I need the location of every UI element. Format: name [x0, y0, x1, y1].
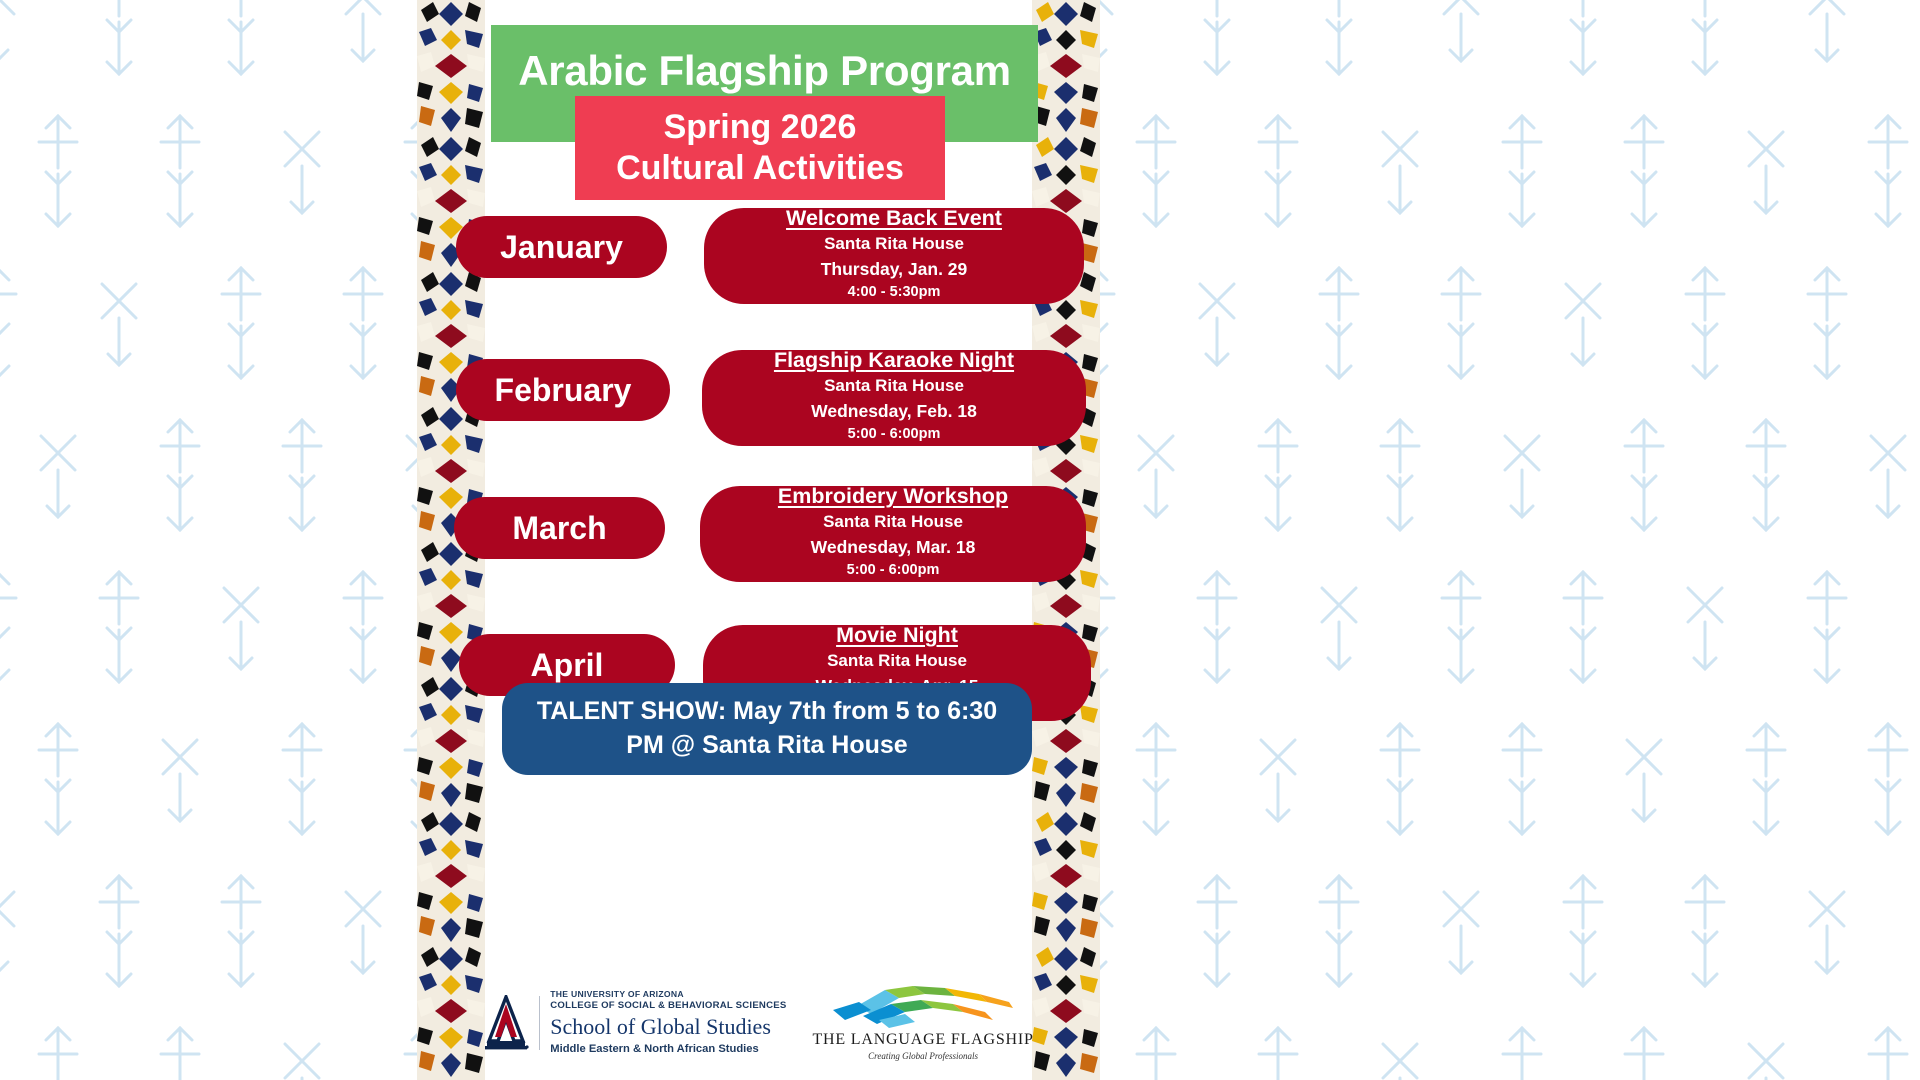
- background-x-motif-icon: [1373, 1024, 1427, 1080]
- background-x-motif-icon: [1739, 112, 1793, 230]
- event-date: Thursday, Jan. 29: [821, 257, 968, 282]
- language-flagship-logo: THE LANGUAGE FLAGSHIP Creating Global Pr…: [812, 986, 1033, 1061]
- page-title: Arabic Flagship Program: [491, 47, 1038, 95]
- background-x-motif-icon: [1495, 416, 1549, 534]
- background-arrow-motif-icon: [1251, 112, 1305, 230]
- background-x-motif-icon: [153, 720, 207, 838]
- flagship-tagline: Creating Global Professionals: [868, 1051, 978, 1061]
- month-pill-january: January: [456, 216, 667, 278]
- background-arrow-motif-icon: [31, 720, 85, 838]
- background-x-motif-icon: [1434, 0, 1488, 78]
- background-arrow-motif-icon: [1678, 0, 1732, 78]
- background-arrow-motif-icon: [1129, 720, 1183, 838]
- schedule-row: February Flagship Karaoke Night Santa Ri…: [417, 329, 1100, 450]
- background-arrow-motif-icon: [1556, 0, 1610, 78]
- background-arrow-motif-icon: [1190, 568, 1244, 686]
- college-name: COLLEGE OF SOCIAL & BEHAVIORAL SCIENCES: [550, 1000, 786, 1012]
- background-x-motif-icon: [1800, 0, 1854, 78]
- background-x-motif-icon: [0, 0, 24, 78]
- background-x-motif-icon: [92, 264, 146, 382]
- background-arrow-motif-icon: [336, 264, 390, 382]
- event-title: Movie Night: [836, 623, 958, 649]
- background-arrow-motif-icon: [1251, 416, 1305, 534]
- event-time: 4:00 - 5:30pm: [848, 282, 941, 304]
- background-x-motif-icon: [31, 416, 85, 534]
- background-arrow-motif-icon: [1312, 872, 1366, 990]
- month-label: April: [531, 647, 604, 684]
- background-arrow-motif-icon: [1800, 568, 1854, 686]
- background-arrow-motif-icon: [275, 720, 329, 838]
- background-x-motif-icon: [1739, 1024, 1793, 1080]
- background-arrow-motif-icon: [92, 872, 146, 990]
- background-x-motif-icon: [0, 872, 24, 990]
- background-x-motif-icon: [1617, 720, 1671, 838]
- background-x-motif-icon: [275, 1024, 329, 1080]
- background-arrow-motif-icon: [1556, 872, 1610, 990]
- background-x-motif-icon: [1373, 112, 1427, 230]
- background-arrow-motif-icon: [336, 568, 390, 686]
- background-arrow-motif-icon: [1373, 416, 1427, 534]
- month-label: January: [500, 229, 623, 266]
- month-pill-february: February: [456, 359, 670, 421]
- background-x-motif-icon: [1556, 264, 1610, 382]
- event-location: Santa Rita House: [827, 649, 967, 674]
- background-arrow-motif-icon: [1251, 1024, 1305, 1080]
- background-arrow-motif-icon: [1312, 0, 1366, 78]
- background-x-motif-icon: [214, 568, 268, 686]
- university-of-arizona-logo: THE UNIVERSITY OF ARIZONA COLLEGE OF SOC…: [483, 989, 786, 1057]
- logo-divider: [539, 996, 540, 1050]
- poster: Arabic Flagship Program Spring 2026 Cult…: [417, 0, 1100, 1080]
- event-time: 5:00 - 6:00pm: [848, 424, 941, 446]
- flagship-name: THE LANGUAGE FLAGSHIP: [812, 1031, 1033, 1049]
- background-arrow-motif-icon: [1434, 568, 1488, 686]
- talent-show-line-1: TALENT SHOW: May 7th from 5 to 6:30: [537, 697, 997, 725]
- background-arrow-motif-icon: [1129, 112, 1183, 230]
- background-arrow-motif-icon: [275, 416, 329, 534]
- event-date: Wednesday, Mar. 18: [811, 535, 976, 560]
- background-arrow-motif-icon: [1312, 264, 1366, 382]
- background-arrow-motif-icon: [214, 264, 268, 382]
- background-x-motif-icon: [336, 872, 390, 990]
- background-x-motif-icon: [275, 112, 329, 230]
- background-arrow-motif-icon: [1556, 568, 1610, 686]
- month-label: March: [512, 510, 606, 547]
- event-location: Santa Rita House: [823, 510, 963, 535]
- background-x-motif-icon: [1190, 264, 1244, 382]
- background-arrow-motif-icon: [1373, 720, 1427, 838]
- background-arrow-motif-icon: [92, 568, 146, 686]
- background-arrow-motif-icon: [92, 0, 146, 78]
- background-arrow-motif-icon: [214, 872, 268, 990]
- month-pill-march: March: [454, 497, 665, 559]
- background-arrow-motif-icon: [31, 1024, 85, 1080]
- background-arrow-motif-icon: [1434, 264, 1488, 382]
- university-name: THE UNIVERSITY OF ARIZONA: [550, 989, 786, 1000]
- background-arrow-motif-icon: [1800, 264, 1854, 382]
- background-arrow-motif-icon: [1678, 264, 1732, 382]
- background-arrow-motif-icon: [1129, 1024, 1183, 1080]
- background-arrow-motif-icon: [1190, 872, 1244, 990]
- department-name: Middle Eastern & North African Studies: [550, 1042, 786, 1057]
- talent-show-line-2: PM @ Santa Rita House: [626, 731, 907, 759]
- background-arrow-motif-icon: [1861, 720, 1915, 838]
- event-date: Wednesday, Feb. 18: [811, 399, 977, 424]
- event-title: Embroidery Workshop: [778, 484, 1008, 510]
- month-label: February: [495, 372, 632, 409]
- event-card-march: Embroidery Workshop Santa Rita House Wed…: [700, 486, 1086, 582]
- background-arrow-motif-icon: [31, 112, 85, 230]
- event-title: Welcome Back Event: [786, 206, 1002, 232]
- background-arrow-motif-icon: [1861, 1024, 1915, 1080]
- university-text-block: THE UNIVERSITY OF ARIZONA COLLEGE OF SOC…: [550, 989, 786, 1057]
- event-card-january: Welcome Back Event Santa Rita House Thur…: [704, 208, 1084, 304]
- background-arrow-motif-icon: [1495, 720, 1549, 838]
- schedule-row: April Movie Night Santa Rita House Wedne…: [417, 571, 1100, 692]
- footer-logos: THE UNIVERSITY OF ARIZONA COLLEGE OF SOC…: [485, 974, 1032, 1072]
- background-arrow-motif-icon: [1190, 0, 1244, 78]
- background-x-motif-icon: [1678, 568, 1732, 686]
- flagship-chevron-mark-icon: [833, 986, 1013, 1030]
- background-arrow-motif-icon: [1617, 416, 1671, 534]
- background-arrow-motif-icon: [1739, 720, 1793, 838]
- talent-show-text: TALENT SHOW: May 7th from 5 to 6:30 PM @…: [537, 695, 997, 763]
- background-arrow-motif-icon: [0, 264, 24, 382]
- background-arrow-motif-icon: [153, 1024, 207, 1080]
- school-name: School of Global Studies: [550, 1013, 786, 1040]
- background-arrow-motif-icon: [1495, 1024, 1549, 1080]
- event-location: Santa Rita House: [824, 232, 964, 257]
- background-arrow-motif-icon: [1678, 872, 1732, 990]
- background-x-motif-icon: [1251, 720, 1305, 838]
- term-line-2: Cultural Activities: [616, 149, 904, 188]
- schedule-row: January Welcome Back Event Santa Rita Ho…: [417, 208, 1100, 329]
- schedule-row: March Embroidery Workshop Santa Rita Hou…: [417, 450, 1100, 571]
- background-arrow-motif-icon: [1617, 112, 1671, 230]
- event-card-february: Flagship Karaoke Night Santa Rita House …: [702, 350, 1086, 446]
- background-x-motif-icon: [1129, 416, 1183, 534]
- arizona-a-svg: [483, 995, 529, 1051]
- talent-show-banner: TALENT SHOW: May 7th from 5 to 6:30 PM @…: [502, 683, 1032, 775]
- background-arrow-motif-icon: [1739, 416, 1793, 534]
- background-arrow-motif-icon: [1617, 1024, 1671, 1080]
- background-arrow-motif-icon: [153, 112, 207, 230]
- background-arrow-motif-icon: [214, 0, 268, 78]
- background-arrow-motif-icon: [1861, 112, 1915, 230]
- event-location: Santa Rita House: [824, 374, 964, 399]
- background-arrow-motif-icon: [153, 416, 207, 534]
- background-x-motif-icon: [1312, 568, 1366, 686]
- background-x-motif-icon: [1434, 872, 1488, 990]
- background-x-motif-icon: [1861, 416, 1915, 534]
- arizona-block-a-icon: [483, 995, 529, 1051]
- term-band: Spring 2026 Cultural Activities: [575, 96, 945, 200]
- background-x-motif-icon: [336, 0, 390, 78]
- term-line-1: Spring 2026: [664, 108, 857, 147]
- background-x-motif-icon: [1800, 872, 1854, 990]
- background-arrow-motif-icon: [1495, 112, 1549, 230]
- background-arrow-motif-icon: [0, 568, 24, 686]
- event-title: Flagship Karaoke Night: [774, 348, 1014, 374]
- schedule-list: January Welcome Back Event Santa Rita Ho…: [417, 208, 1100, 692]
